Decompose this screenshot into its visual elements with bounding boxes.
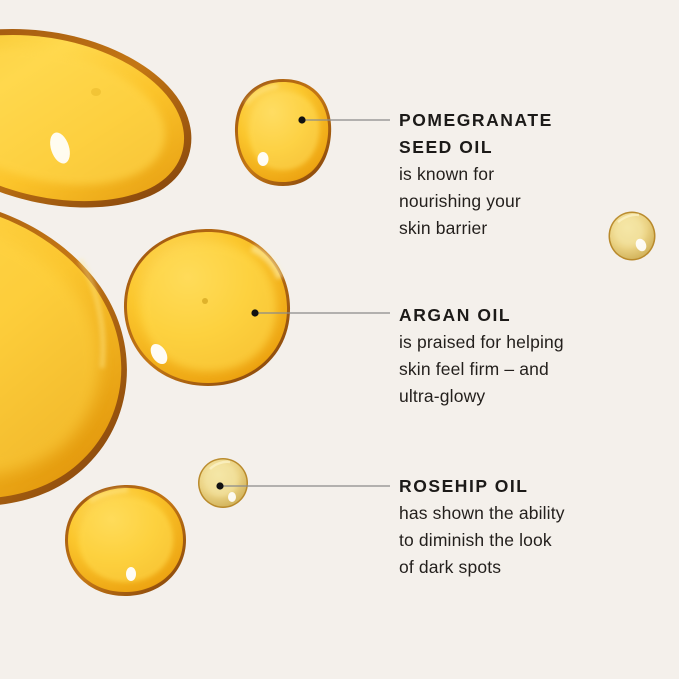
droplet-small-center (198, 458, 248, 508)
callout-heading-argan: ARGAN OIL (399, 302, 651, 329)
leader-dot-argan (251, 309, 258, 316)
droplet-blob-top-center (235, 79, 331, 186)
leader-dot-pomegranate (298, 116, 305, 123)
highlight (228, 492, 236, 502)
oil-ingredient-infographic: POMEGRANATE SEED OIL is known for nouris… (0, 0, 679, 679)
droplet-bottom-left (65, 485, 186, 596)
leader-dot-rosehip (216, 482, 223, 489)
callout-body-pomegranate: is known for nourishing your skin barrie… (399, 161, 651, 242)
callout-heading-pomegranate: POMEGRANATE SEED OIL (399, 107, 651, 161)
callout-pomegranate-seed-oil: POMEGRANATE SEED OIL is known for nouris… (399, 107, 651, 242)
callout-body-rosehip: has shown the ability to diminish the lo… (399, 500, 651, 581)
droplet-center-large (124, 229, 290, 386)
callout-argan-oil: ARGAN OIL is praised for helping skin fe… (399, 302, 651, 410)
callout-heading-rosehip: ROSEHIP OIL (399, 473, 651, 500)
highlight (126, 567, 136, 581)
highlight (258, 152, 269, 166)
callout-rosehip-oil: ROSEHIP OIL has shown the ability to dim… (399, 473, 651, 581)
callout-body-argan: is praised for helping skin feel firm – … (399, 329, 651, 410)
